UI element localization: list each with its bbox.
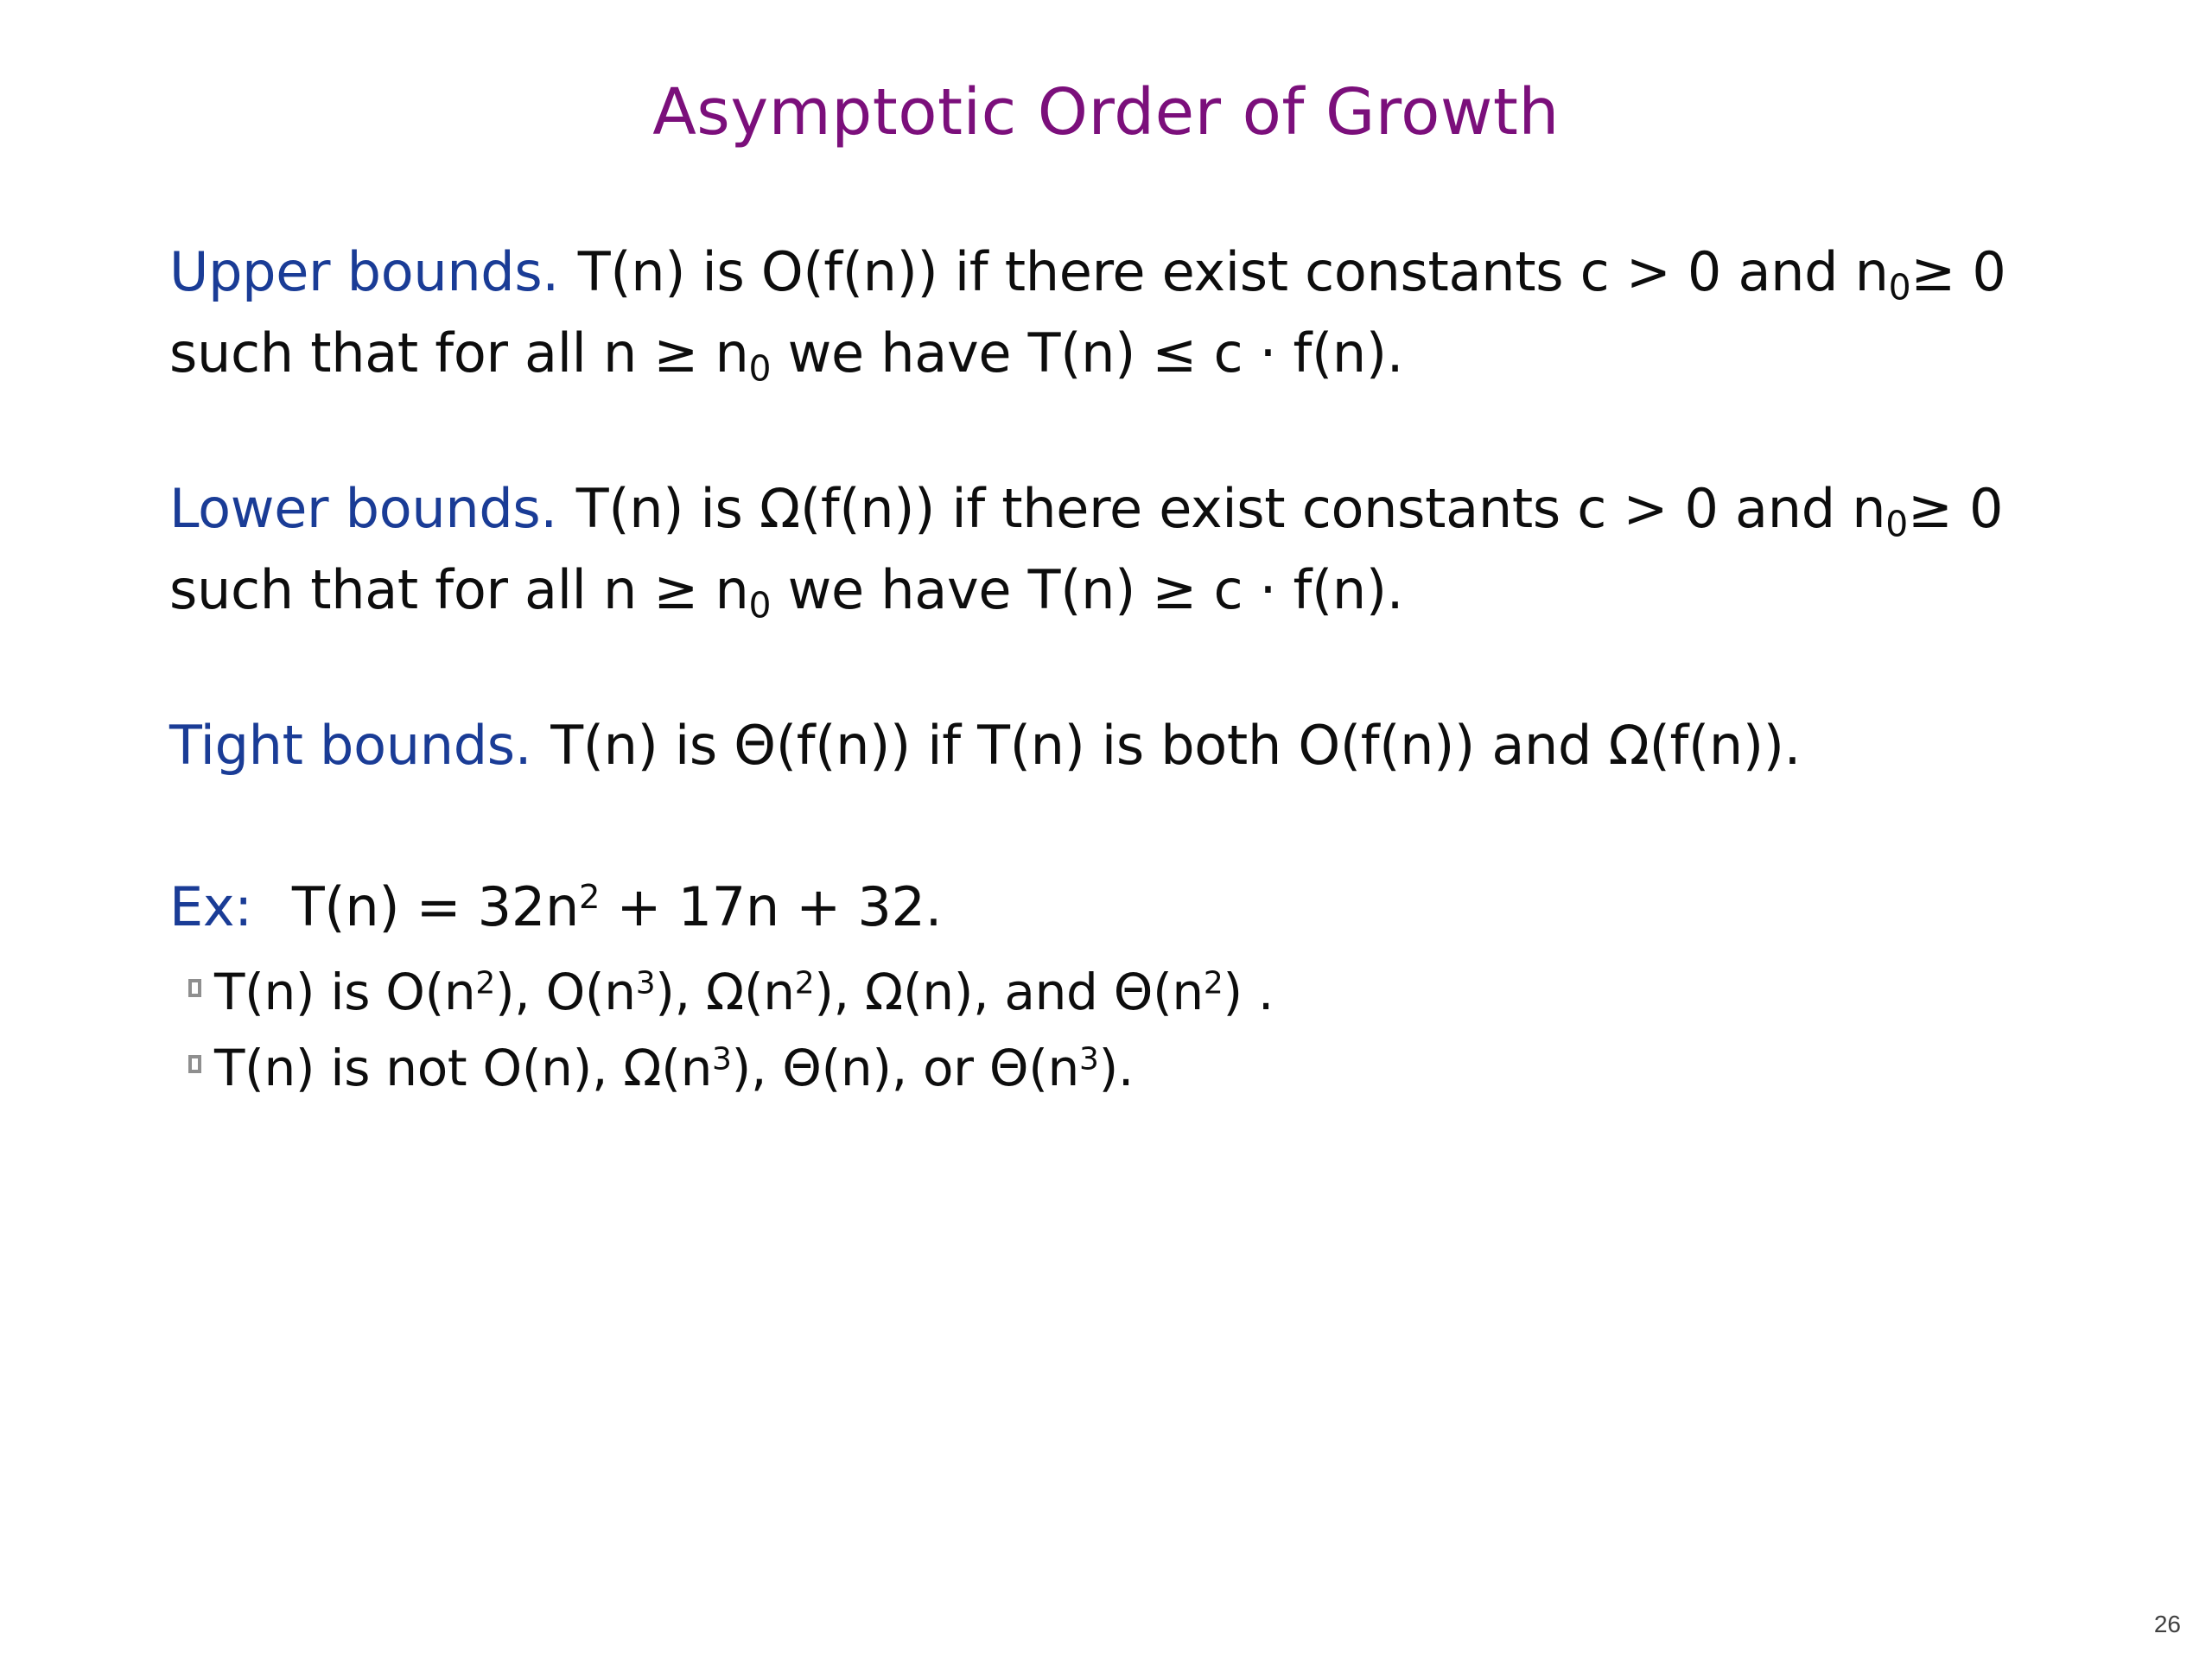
theta-icon: Θ xyxy=(782,1039,821,1097)
lower-bounds-line2-subscript: 0 xyxy=(748,585,771,626)
upper-bounds-line2-b: n xyxy=(698,321,748,385)
omega-icon: Ω xyxy=(865,963,903,1021)
example-formula-exponent: 2 xyxy=(579,878,600,917)
bullet2-sup2: 3 xyxy=(1079,1041,1099,1077)
theta-icon: Θ xyxy=(989,1039,1028,1097)
upper-bounds-line2-a: such that for all n xyxy=(169,321,653,385)
theta-icon: Θ xyxy=(1114,963,1153,1021)
bullet-text: T(n) is not O(n), Ω(n3), Θ(n), or Θ(n3). xyxy=(214,1030,2105,1106)
lower-bounds-lead: Lower bounds. xyxy=(169,477,557,540)
theta-icon: Θ xyxy=(734,714,776,777)
lower-bounds-line1-b: (f(n)) if there exist constants c > 0 an… xyxy=(800,477,1885,540)
paragraph-lower-bounds: Lower bounds.T(n) is Ω(f(n)) if there ex… xyxy=(169,468,2105,631)
paragraph-upper-bounds: Upper bounds.T(n) is O(f(n)) if there ex… xyxy=(169,232,2105,394)
example-formula-b: + 17n + 32. xyxy=(600,875,942,938)
omega-icon: Ω xyxy=(760,477,800,540)
bullet1-sup1: 2 xyxy=(475,965,495,1001)
bullet1-sup4: 2 xyxy=(1204,965,1224,1001)
slide-body: Upper bounds.T(n) is O(f(n)) if there ex… xyxy=(169,232,2105,1106)
hollow-square-bullet-icon xyxy=(169,1018,214,1094)
bullet2-a: T(n) is not O(n), xyxy=(214,1039,623,1097)
bullet2-b: (n xyxy=(661,1039,712,1097)
omega-icon: Ω xyxy=(1608,714,1649,777)
upper-bounds-lead: Upper bounds. xyxy=(169,240,559,303)
lower-bounds-line2-a: such that for all n xyxy=(169,558,653,621)
upper-bounds-line2-subscript: 0 xyxy=(748,348,771,390)
upper-bounds-line1-a: T(n) is O(f(n)) if there exist constants… xyxy=(578,240,1889,303)
greater-equal-icon: ≥ xyxy=(653,558,698,621)
example-formula-a: T(n) = 32n xyxy=(292,875,579,938)
tight-bounds-line-b: (f(n)) if T(n) is both O(f(n)) and xyxy=(776,714,1609,777)
tight-bounds-line-a: T(n) is xyxy=(550,714,734,777)
bullet1-b: ), O(n xyxy=(495,963,636,1021)
bullet1-c: ), xyxy=(655,963,706,1021)
greater-equal-icon: ≥ xyxy=(1908,477,1953,540)
greater-equal-icon: ≥ xyxy=(653,321,698,385)
tight-bounds-lead: Tight bounds. xyxy=(169,714,531,777)
bullet2-f: ). xyxy=(1099,1039,1134,1097)
example-headline: Ex:T(n) = 32n2 + 17n + 32. xyxy=(169,868,2105,947)
hollow-square-bullet-icon xyxy=(169,942,214,1018)
bullet1-e: ), xyxy=(814,963,865,1021)
lower-bounds-line2-b: n xyxy=(698,558,748,621)
example-bullet-list: T(n) is O(n2), O(n3), Ω(n2), Ω(n), and Θ… xyxy=(169,954,2105,1106)
lower-bounds-line1-subscript: 0 xyxy=(1885,504,1908,545)
list-item: T(n) is not O(n), Ω(n3), Θ(n), or Θ(n3). xyxy=(169,1030,2105,1106)
upper-bounds-line1-subscript: 0 xyxy=(1889,267,1911,308)
bullet2-e: (n xyxy=(1028,1039,1079,1097)
bullet2-c: ), xyxy=(732,1039,783,1097)
greater-equal-icon: ≥ xyxy=(1152,558,1197,621)
lower-bounds-line2-c: we have T(n) xyxy=(771,558,1152,621)
less-equal-icon: ≤ xyxy=(1152,321,1197,385)
bullet1-a: T(n) is O(n xyxy=(214,963,475,1021)
omega-icon: Ω xyxy=(623,1039,661,1097)
upper-bounds-line2-d: c · f(n). xyxy=(1197,321,1403,385)
tight-bounds-line-c: (f(n)). xyxy=(1649,714,1801,777)
greater-equal-icon: ≥ xyxy=(1910,240,1955,303)
example-label: Ex: xyxy=(169,875,252,938)
bullet1-d: (n xyxy=(744,963,795,1021)
bullet2-sup1: 3 xyxy=(712,1041,732,1077)
bullet1-sup2: 3 xyxy=(636,965,656,1001)
page-number: 26 xyxy=(2154,1611,2181,1638)
lower-bounds-line1-a: T(n) is xyxy=(576,477,760,540)
bullet2-d: (n), or xyxy=(822,1039,989,1097)
bullet1-h: ) . xyxy=(1223,963,1274,1021)
lower-bounds-line1-c: 0 xyxy=(1953,477,2004,540)
bullet1-g: (n xyxy=(1153,963,1204,1021)
slide-canvas: Asymptotic Order of Growth Upper bounds.… xyxy=(0,0,2212,1659)
bullet1-f: (n), and xyxy=(903,963,1114,1021)
paragraph-tight-bounds: Tight bounds.T(n) is Θ(f(n)) if T(n) is … xyxy=(169,705,2105,786)
list-item: T(n) is O(n2), O(n3), Ω(n2), Ω(n), and Θ… xyxy=(169,954,2105,1030)
omega-icon: Ω xyxy=(706,963,744,1021)
example-block: Ex:T(n) = 32n2 + 17n + 32. T(n) is O(n2)… xyxy=(169,868,2105,1106)
lower-bounds-line2-d: c · f(n). xyxy=(1197,558,1403,621)
bullet-text: T(n) is O(n2), O(n3), Ω(n2), Ω(n), and Θ… xyxy=(214,954,2105,1030)
page-title: Asymptotic Order of Growth xyxy=(0,78,2212,148)
bullet1-sup3: 2 xyxy=(795,965,815,1001)
upper-bounds-line2-c: we have T(n) xyxy=(771,321,1152,385)
upper-bounds-line1-b: 0 xyxy=(1955,240,2006,303)
